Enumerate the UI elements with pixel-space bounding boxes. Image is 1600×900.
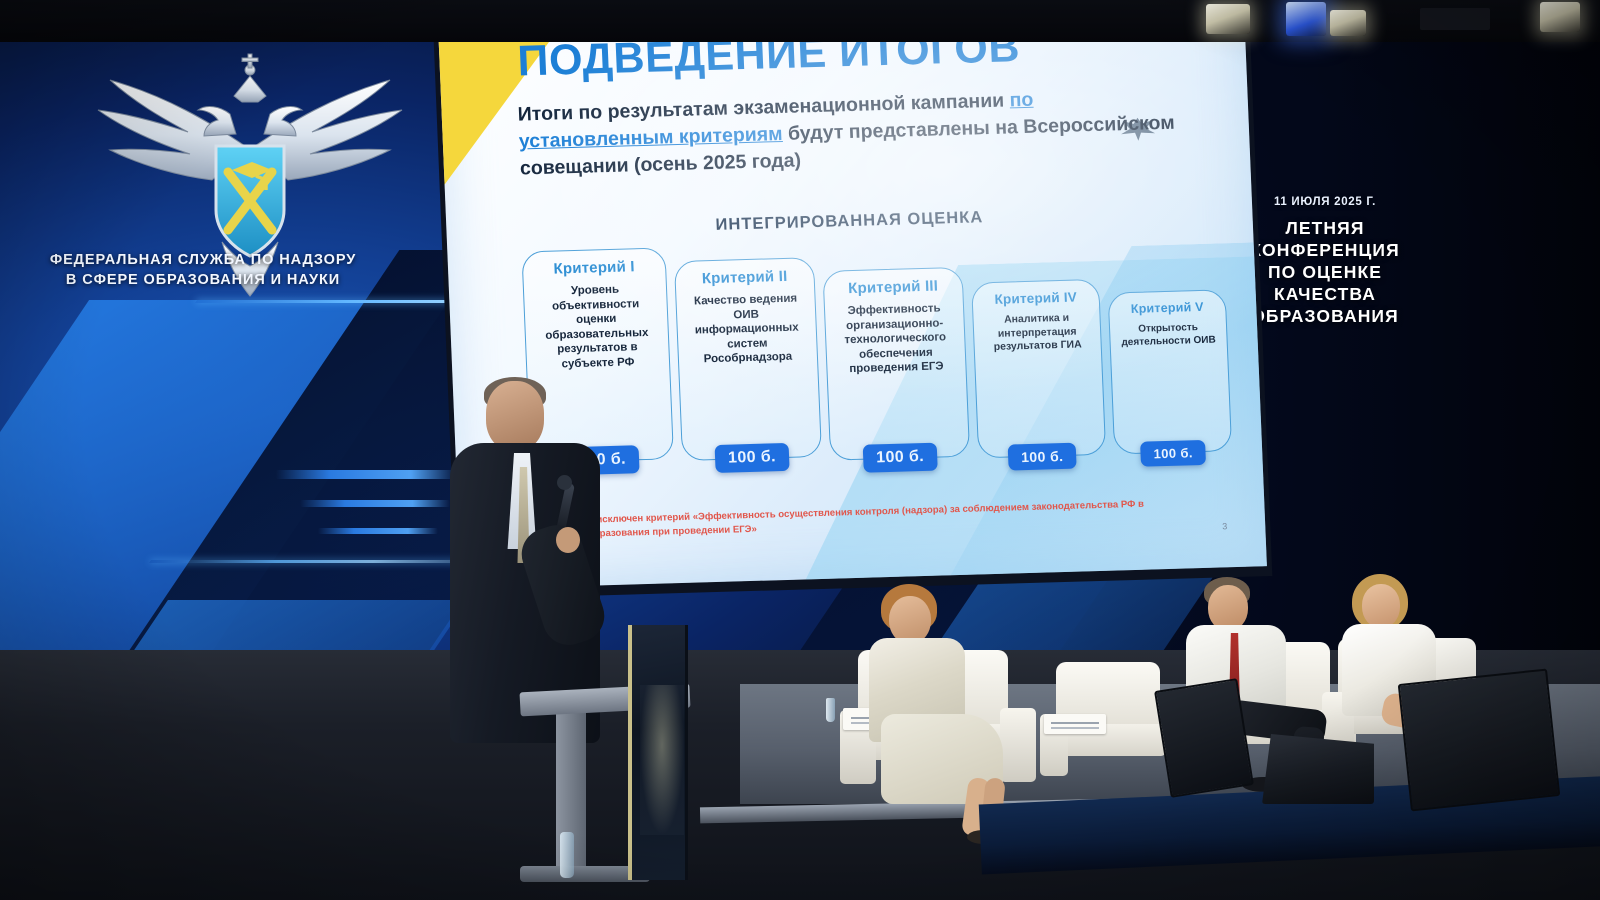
criterion-4-heading: Критерий IV: [994, 290, 1077, 307]
criterion-4-score: 100 б.: [1008, 443, 1077, 471]
spotlight-2-blue: [1286, 2, 1326, 36]
criterion-1-heading: Критерий I: [553, 258, 635, 277]
criterion-card-3: Критерий III Эффективность организационн…: [822, 267, 970, 461]
water-glass-1: [826, 698, 835, 722]
criterion-card-4: Критерий IV Аналитика и интерпретация ре…: [971, 279, 1106, 459]
podium-panel-graphic: [640, 685, 684, 835]
stage-confidence-monitor-1: [1154, 678, 1254, 798]
water-bottle: [560, 832, 574, 878]
wall-band-3: [318, 528, 438, 534]
criterion-5-heading: Критерий V: [1131, 300, 1204, 316]
conference-stage-photo: ФЕДЕРАЛЬНАЯ СЛУЖБА ПО НАДЗОРУ В СФЕРЕ ОБ…: [0, 0, 1600, 900]
emblem-caption-line1: ФЕДЕРАЛЬНАЯ СЛУЖБА ПО НАДЗОРУ: [38, 250, 368, 270]
speaker-head: [486, 381, 544, 451]
slide-subtitle: Итоги по результатам экзаменационной кам…: [517, 83, 1180, 183]
emblem-caption-line2: В СФЕРЕ ОБРАЗОВАНИЯ И НАУКИ: [38, 270, 368, 290]
wall-band-1: [276, 470, 456, 479]
podium-branding-panel: [628, 625, 688, 880]
criterion-5-score: 100 б.: [1140, 440, 1206, 467]
spotlight-3: [1330, 10, 1366, 36]
panelist-1-head: [889, 596, 931, 644]
criterion-5-body: Открытость деятельности ОИВ: [1110, 320, 1227, 349]
nameplate-2: [1044, 714, 1106, 734]
criterion-4-body: Аналитика и интерпретация результатов ГИ…: [973, 311, 1101, 355]
criterion-3-score: 100 б.: [863, 443, 938, 473]
criterion-3-heading: Критерий III: [848, 278, 939, 298]
panelist-1: [855, 582, 1015, 812]
floor-wedge-speaker: [1262, 734, 1374, 804]
emblem-caption: ФЕДЕРАЛЬНАЯ СЛУЖБА ПО НАДЗОРУ В СФЕРЕ ОБ…: [38, 250, 368, 290]
criterion-card-5: Критерий V Открытость деятельности ОИВ 1…: [1108, 289, 1233, 454]
stage-confidence-monitor-2: [1398, 669, 1561, 812]
criterion-2-body: Качество ведения ОИВ информационных сист…: [676, 291, 817, 367]
panelist-3-head: [1362, 584, 1400, 628]
criterion-3-body: Эффективность организационно-технологиче…: [825, 301, 966, 377]
speaker: [440, 375, 650, 875]
criterion-card-2: Критерий II Качество ведения ОИВ информа…: [674, 257, 822, 461]
speaker-hand: [556, 527, 580, 553]
spotlight-4: [1540, 2, 1580, 32]
conference-title-line1: ЛЕТНЯЯ: [1232, 217, 1418, 239]
criterion-2-score: 100 б.: [715, 443, 790, 473]
conference-title-line2: КОНФЕРЕНЦИЯ: [1232, 239, 1418, 261]
wall-band-2: [300, 500, 450, 507]
criterion-1-body: Уровень объективности оценки образовател…: [524, 281, 670, 372]
spotlight-1: [1206, 4, 1250, 34]
light-fixture-housing: [1420, 8, 1490, 30]
conference-date: 11 ИЮЛЯ 2025 Г.: [1232, 196, 1418, 208]
slide-page-number: 3: [1222, 521, 1227, 531]
criterion-2-heading: Критерий II: [702, 268, 788, 287]
microphone-head: [557, 475, 572, 490]
